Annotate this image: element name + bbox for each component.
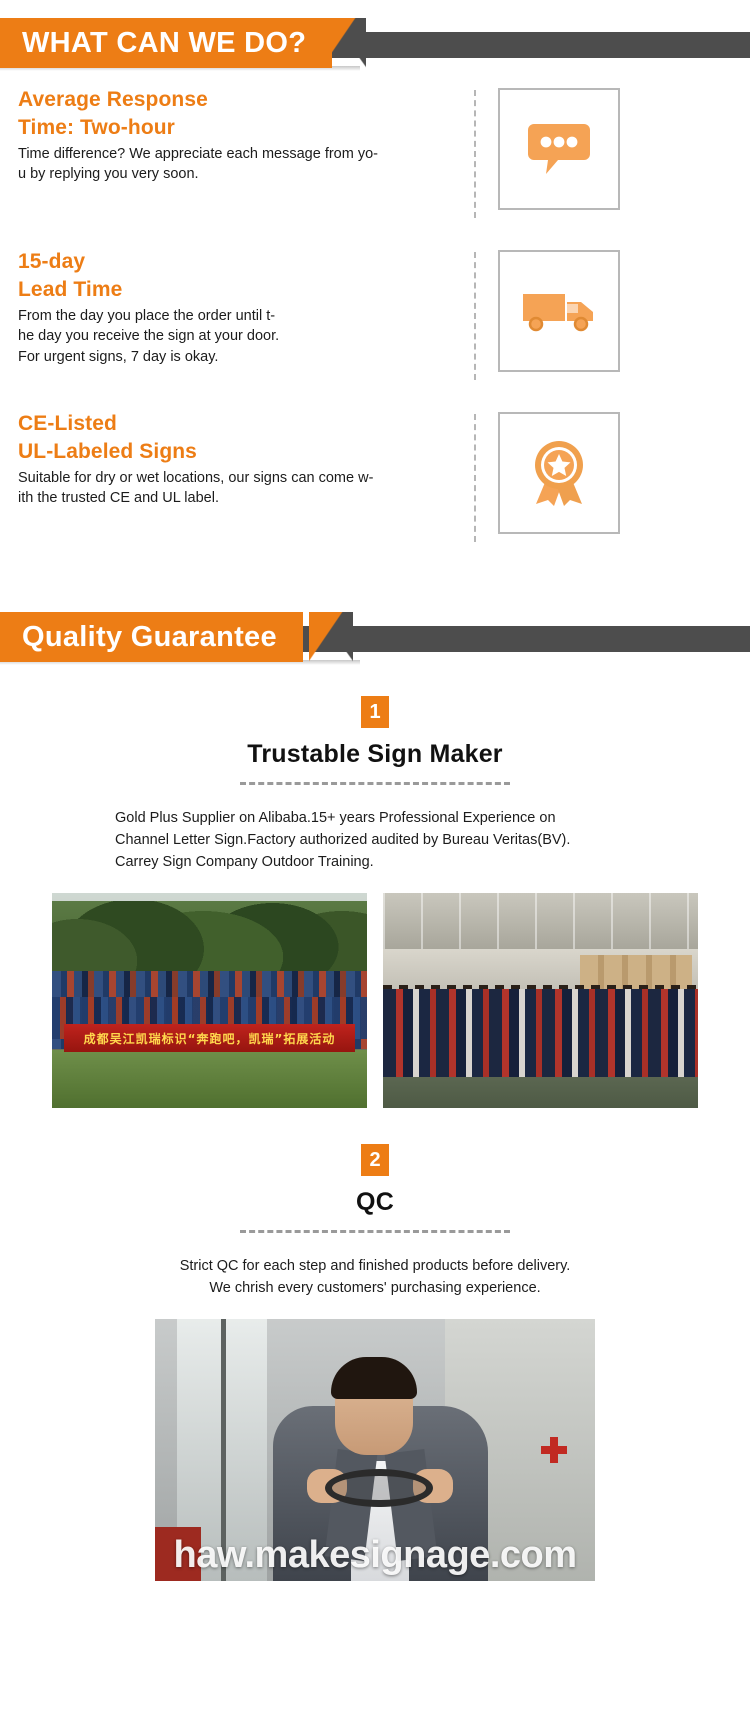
- dashed-rule: [240, 782, 510, 785]
- step-number-badge: 1: [361, 696, 389, 728]
- dashed-rule: [240, 1230, 510, 1233]
- banner-notch-orange: [309, 612, 343, 662]
- photo-row-team: 成都吴江凯瑞标识“奔跑吧，凯瑞”拓展活动: [0, 893, 750, 1108]
- feature-icon-box: [498, 412, 620, 534]
- banner-tab-what-can-we-do: WHAT CAN WE DO?: [0, 18, 332, 68]
- photo-banner-text: 成都吴江凯瑞标识“奔跑吧，凯瑞”拓展活动: [64, 1024, 355, 1052]
- feature-body: From the day you place the order until t…: [18, 306, 462, 368]
- feature-dashed-divider: [474, 252, 476, 380]
- photo-row-qc: [0, 1319, 750, 1581]
- chat-bubble-icon: [528, 122, 590, 176]
- quality-item-trustable-sign-maker: 1 Trustable Sign Maker Gold Plus Supplie…: [0, 672, 750, 1108]
- award-ribbon-icon: [528, 440, 590, 506]
- feature-body: Suitable for dry or wet locations, our s…: [18, 468, 462, 509]
- banner-title: Quality Guarantee: [22, 623, 277, 652]
- photo-factory-training: [383, 893, 698, 1108]
- quality-item-title: QC: [0, 1188, 750, 1217]
- feature-title-line1: Average Response: [18, 86, 462, 114]
- photo-outdoor-team-group: 成都吴江凯瑞标识“奔跑吧，凯瑞”拓展活动: [52, 893, 367, 1108]
- step-number-badge: 2: [361, 1144, 389, 1176]
- product-detail-page: WHAT CAN WE DO? Average Response Time: T…: [0, 0, 750, 1581]
- feature-title-line2: Lead Time: [18, 276, 462, 304]
- banner-title: WHAT CAN WE DO?: [22, 29, 306, 58]
- photo-qc-inspector: [155, 1319, 595, 1581]
- red-cross-marking: [541, 1437, 567, 1463]
- quality-item-body: Strict QC for each step and finished pro…: [115, 1255, 635, 1299]
- feature-icon-box: [498, 250, 620, 372]
- feature-icon-box: [498, 88, 620, 210]
- feature-row-response-time: Average Response Time: Two-hour Time dif…: [0, 86, 750, 222]
- feature-title-line1: CE-Listed: [18, 410, 462, 438]
- feature-body: Time difference? We appreciate each mess…: [18, 144, 462, 185]
- banner-tab-quality-guarantee: Quality Guarantee: [0, 612, 303, 662]
- feature-text-block: CE-Listed UL-Labeled Signs Suitable for …: [18, 410, 470, 509]
- quality-item-title: Trustable Sign Maker: [0, 740, 750, 769]
- feature-title-line1: 15-day: [18, 248, 462, 276]
- section-banner-what-can-we-do: WHAT CAN WE DO?: [0, 18, 750, 68]
- feature-title-line2: UL-Labeled Signs: [18, 438, 462, 466]
- delivery-truck-icon: [523, 288, 595, 334]
- section-banner-quality-guarantee: Quality Guarantee: [0, 612, 750, 662]
- quality-item-body: Gold Plus Supplier on Alibaba.15+ years …: [115, 807, 635, 873]
- feature-row-lead-time: 15-day Lead Time From the day you place …: [0, 248, 750, 384]
- feature-dashed-divider: [474, 414, 476, 542]
- feature-text-block: Average Response Time: Two-hour Time dif…: [18, 86, 470, 185]
- features-list: Average Response Time: Two-hour Time dif…: [0, 78, 750, 594]
- feature-title-line2: Time: Two-hour: [18, 114, 462, 142]
- quality-item-qc: 2 QC Strict QC for each step and finishe…: [0, 1108, 750, 1581]
- feature-row-ce-ul-listed: CE-Listed UL-Labeled Signs Suitable for …: [0, 410, 750, 546]
- inspected-ring-part: [325, 1469, 433, 1507]
- feature-text-block: 15-day Lead Time From the day you place …: [18, 248, 470, 368]
- feature-dashed-divider: [474, 90, 476, 218]
